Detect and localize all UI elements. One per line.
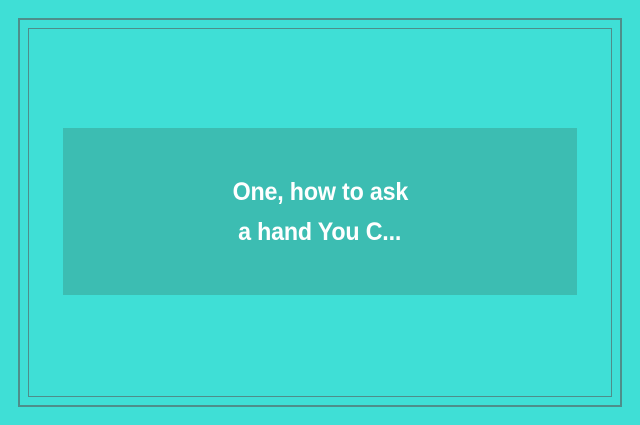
caption-line-1: One, how to ask (232, 172, 407, 212)
slide-canvas: One, how to ask a hand You C... (0, 0, 640, 425)
caption-panel: One, how to ask a hand You C... (63, 128, 577, 295)
caption-line-2: a hand You C... (238, 212, 401, 252)
